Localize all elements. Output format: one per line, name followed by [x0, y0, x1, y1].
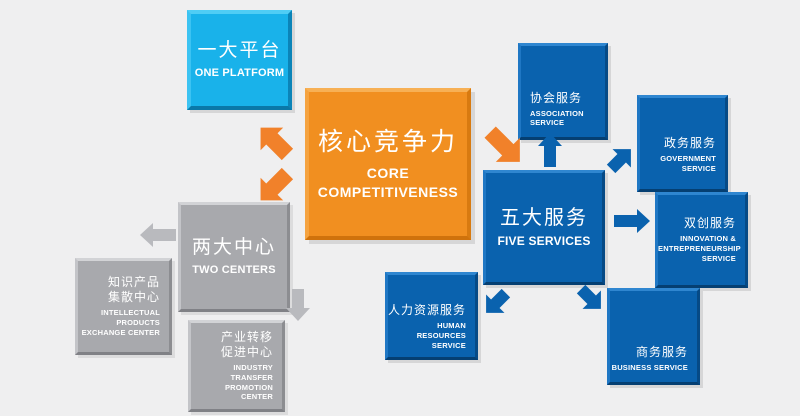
node-core-competitiveness-cn: 核心竞争力: [309, 127, 467, 158]
diagram-canvas: 一大平台 ONE PLATFORM 核心竞争力 CORE COMPETITIVE…: [0, 0, 800, 416]
node-human-resources-service[interactable]: 人力资源服务 HUMAN RESOURCES SERVICE: [385, 272, 478, 360]
arrow-five-services-to-human-resources-icon: [481, 288, 511, 318]
node-industry-transfer-promotion-center[interactable]: 产业转移 促进中心 INDUSTRY TRANSFER PROMOTION CE…: [188, 320, 285, 412]
node-one-platform[interactable]: 一大平台 ONE PLATFORM: [187, 10, 292, 110]
node-association-service-cn: 协会服务: [530, 91, 605, 106]
arrow-core-to-platform-icon: [252, 120, 296, 162]
node-human-resources-service-en: HUMAN RESOURCES SERVICE: [388, 321, 466, 350]
node-two-centers-en: TWO CENTERS: [181, 263, 287, 277]
node-business-service-en: BUSINESS SERVICE: [610, 363, 688, 373]
node-two-centers[interactable]: 两大中心 TWO CENTERS: [178, 202, 290, 312]
node-core-competitiveness[interactable]: 核心竞争力 CORE COMPETITIVENESS: [305, 88, 471, 240]
node-industry-transfer-promotion-center-cn: 产业转移 促进中心: [191, 330, 273, 360]
node-innovation-entrepreneurship-service-en: INNOVATION & ENTREPRENEURSHIP SERVICE: [658, 234, 736, 263]
node-intellectual-products-exchange-center-cn: 知识产品 集散中心: [78, 275, 160, 305]
node-core-competitiveness-en: CORE COMPETITIVENESS: [309, 164, 467, 200]
node-innovation-entrepreneurship-service-cn: 双创服务: [658, 216, 736, 231]
arrow-core-to-five-services-icon: [481, 124, 529, 170]
node-government-service-cn: 政务服务: [640, 136, 716, 151]
arrow-five-services-to-government-icon: [606, 144, 636, 174]
node-innovation-entrepreneurship-service[interactable]: 双创服务 INNOVATION & ENTREPRENEURSHIP SERVI…: [655, 192, 748, 288]
arrow-core-to-two-centers-icon: [252, 166, 296, 208]
arrow-five-services-to-innovation-icon: [613, 208, 651, 234]
node-government-service[interactable]: 政务服务 GOVERNMENT SERVICE: [637, 95, 728, 192]
node-one-platform-en: ONE PLATFORM: [191, 66, 288, 80]
node-association-service[interactable]: 协会服务 ASSOCIATION SERVICE: [518, 43, 608, 140]
node-business-service[interactable]: 商务服务 BUSINESS SERVICE: [607, 288, 700, 385]
arrow-five-services-to-business-icon: [576, 284, 606, 314]
node-business-service-cn: 商务服务: [610, 345, 688, 360]
arrow-two-centers-to-promotion-center-icon: [285, 288, 311, 322]
node-five-services[interactable]: 五大服务 FIVE SERVICES: [483, 170, 605, 285]
node-intellectual-products-exchange-center-en: INTELLECTUAL PRODUCTS EXCHANGE CENTER: [78, 308, 160, 337]
node-industry-transfer-promotion-center-en: INDUSTRY TRANSFER PROMOTION CENTER: [191, 363, 273, 402]
node-human-resources-service-cn: 人力资源服务: [388, 303, 466, 318]
node-five-services-cn: 五大服务: [486, 206, 602, 231]
node-five-services-en: FIVE SERVICES: [486, 234, 602, 250]
node-one-platform-cn: 一大平台: [191, 39, 288, 63]
node-intellectual-products-exchange-center[interactable]: 知识产品 集散中心 INTELLECTUAL PRODUCTS EXCHANGE…: [75, 258, 172, 355]
node-association-service-en: ASSOCIATION SERVICE: [530, 109, 605, 129]
arrow-five-services-to-association-icon: [537, 132, 563, 168]
node-two-centers-cn: 两大中心: [181, 236, 287, 260]
arrow-two-centers-to-exchange-center-icon: [139, 222, 177, 248]
node-government-service-en: GOVERNMENT SERVICE: [640, 154, 716, 174]
